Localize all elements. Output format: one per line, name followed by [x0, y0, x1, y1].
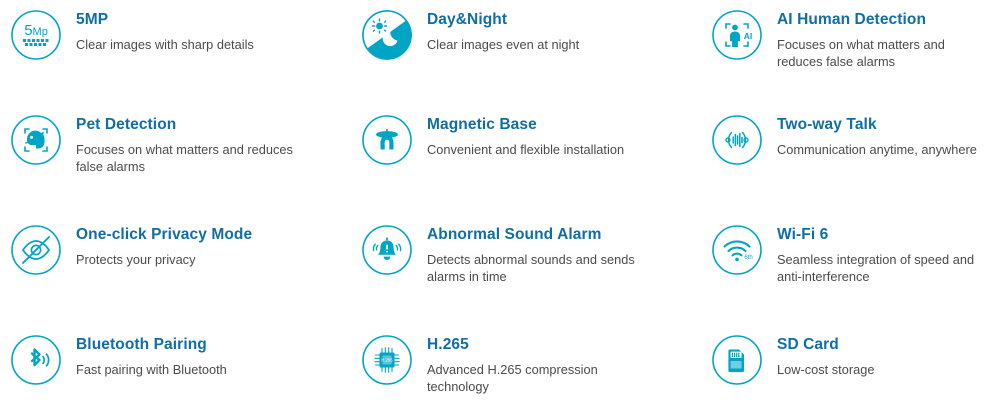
two-way-talk-icon [711, 114, 763, 166]
feature-title: SD Card [777, 336, 1006, 354]
feature-description: Seamless integration of speed and anti-i… [777, 251, 993, 285]
feature-description: Focuses on what matters and reduces fals… [777, 36, 993, 70]
svg-text:5Mp: 5Mp [24, 22, 48, 39]
magnetic-base-icon [361, 114, 413, 166]
feature-item-5mp: 5Mp 5MP Clear images with sharp details [0, 0, 350, 105]
feature-text: One-click Privacy Mode Protects your pri… [76, 224, 350, 268]
svg-text:AI: AI [744, 31, 753, 41]
feature-title: Pet Detection [76, 116, 350, 134]
5mp-sensor-icon: 5Mp [10, 9, 62, 61]
feature-text: AI Human Detection Focuses on what matte… [777, 9, 1006, 70]
bluetooth-pairing-icon [10, 334, 62, 386]
feature-item-wifi-6: 6th Wi-Fi 6 Seamless integration of spee… [700, 215, 1006, 325]
privacy-eye-off-icon [10, 224, 62, 276]
h265-chip-icon: H.265 [361, 334, 413, 386]
feature-title: Two-way Talk [777, 116, 1006, 134]
day-night-icon [361, 9, 413, 61]
feature-title: Bluetooth Pairing [76, 336, 350, 354]
feature-text: SD Card Low-cost storage [777, 334, 1006, 378]
pet-detection-icon [10, 114, 62, 166]
feature-item-pet-detection: Pet Detection Focuses on what matters an… [0, 105, 350, 215]
sd-card-icon [711, 334, 763, 386]
feature-grid: 5Mp 5MP Clear images with sharp details [0, 0, 1006, 417]
feature-item-h265: H.265 [350, 325, 700, 417]
feature-text: H.265 Advanced H.265 compression technol… [427, 334, 700, 395]
feature-title: H.265 [427, 336, 700, 354]
feature-title: Day&Night [427, 11, 700, 29]
feature-title: Magnetic Base [427, 116, 700, 134]
feature-item-bluetooth-pairing: Bluetooth Pairing Fast pairing with Blue… [0, 325, 350, 417]
feature-title: Wi-Fi 6 [777, 226, 1006, 244]
svg-text:H.265: H.265 [381, 358, 393, 363]
feature-description: Low-cost storage [777, 361, 993, 378]
feature-title: AI Human Detection [777, 11, 1006, 29]
svg-text:6th: 6th [744, 255, 752, 261]
feature-item-day-night: Day&Night Clear images even at night [350, 0, 700, 105]
feature-item-privacy-mode: One-click Privacy Mode Protects your pri… [0, 215, 350, 325]
feature-description: Protects your privacy [76, 251, 350, 268]
feature-description: Clear images even at night [427, 36, 659, 53]
feature-item-two-way-talk: Two-way Talk Communication anytime, anyw… [700, 105, 1006, 215]
feature-item-magnetic-base: Magnetic Base Convenient and flexible in… [350, 105, 700, 215]
feature-text: Bluetooth Pairing Fast pairing with Blue… [76, 334, 350, 378]
feature-text: Pet Detection Focuses on what matters an… [76, 114, 350, 175]
wifi-6-icon: 6th [711, 224, 763, 276]
feature-description: Communication anytime, anywhere [777, 141, 993, 158]
feature-text: 5MP Clear images with sharp details [76, 9, 350, 53]
abnormal-sound-alarm-icon [361, 224, 413, 276]
feature-description: Clear images with sharp details [76, 36, 350, 53]
feature-text: Wi-Fi 6 Seamless integration of speed an… [777, 224, 1006, 285]
feature-item-ai-human-detection: AI AI Human Detection Focuses on what ma… [700, 0, 1006, 105]
feature-item-abnormal-sound-alarm: Abnormal Sound Alarm Detects abnormal so… [350, 215, 700, 325]
feature-title: Abnormal Sound Alarm [427, 226, 700, 244]
feature-description: Fast pairing with Bluetooth [76, 361, 350, 378]
feature-description: Advanced H.265 compression technology [427, 361, 659, 395]
feature-text: Day&Night Clear images even at night [427, 9, 700, 53]
feature-text: Abnormal Sound Alarm Detects abnormal so… [427, 224, 700, 285]
feature-item-sd-card: SD Card Low-cost storage [700, 325, 1006, 417]
feature-text: Magnetic Base Convenient and flexible in… [427, 114, 700, 158]
feature-description: Convenient and flexible installation [427, 141, 659, 158]
feature-title: One-click Privacy Mode [76, 226, 350, 244]
feature-title: 5MP [76, 11, 350, 29]
feature-text: Two-way Talk Communication anytime, anyw… [777, 114, 1006, 158]
feature-description: Focuses on what matters and reduces fals… [76, 141, 306, 175]
ai-human-detection-icon: AI [711, 9, 763, 61]
feature-description: Detects abnormal sounds and sends alarms… [427, 251, 659, 285]
